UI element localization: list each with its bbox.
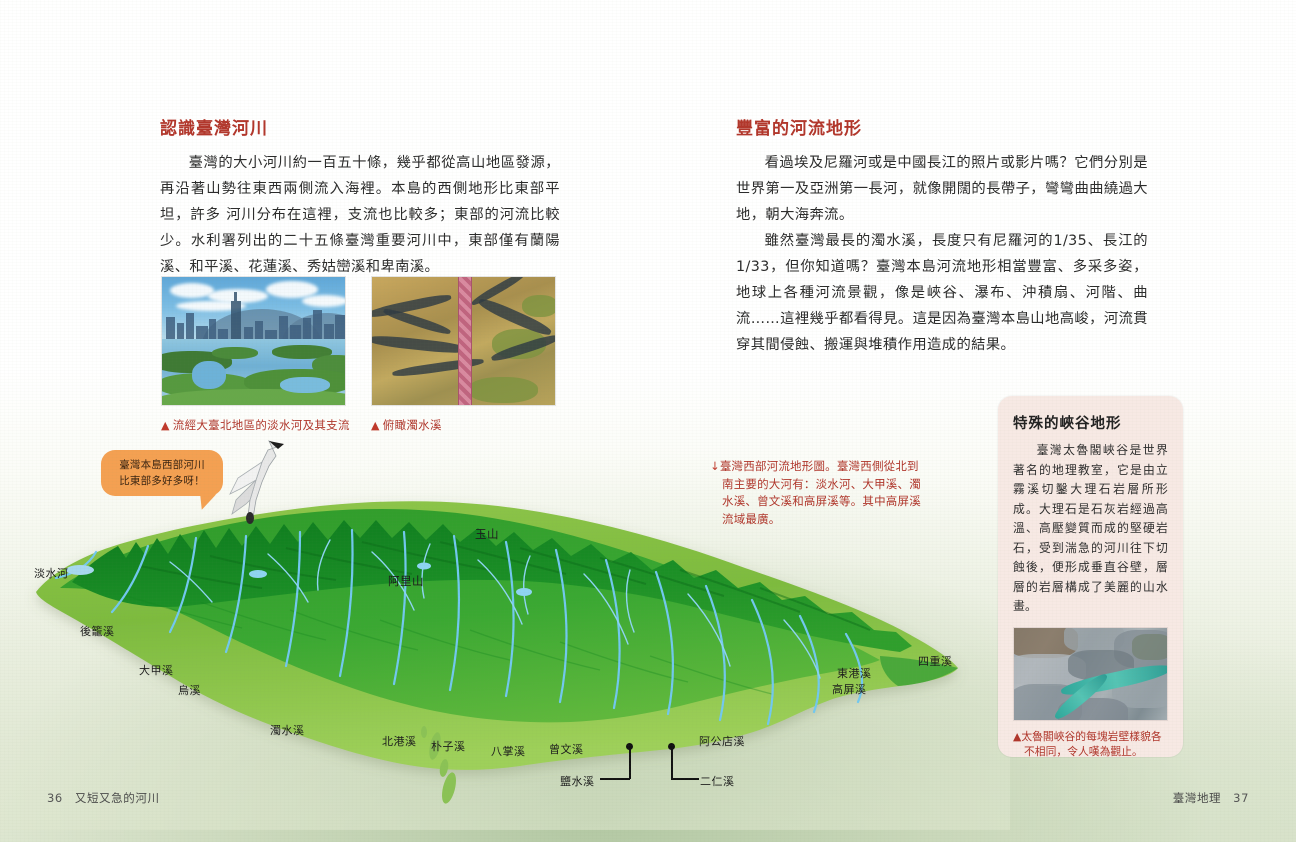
caption-text: 流經大臺北地區的淡水河及其支流 xyxy=(173,418,350,432)
page-number-right: 37 xyxy=(1233,791,1249,805)
taiwan-relief-map: 玉山 阿里山 淡水河 後籠溪 大甲溪 烏溪 濁水溪 北港溪 朴子溪 八掌溪 曾文… xyxy=(0,470,1010,830)
caption-text: 俯瞰濁水溪 xyxy=(383,418,442,432)
taipei101-shape xyxy=(231,301,241,343)
map-label-erren-river: 二仁溪 xyxy=(700,773,735,789)
zhuoshui-photo-caption: ▲俯瞰濁水溪 xyxy=(371,417,541,434)
vegetation-patch xyxy=(522,295,556,317)
zhuoshui-river-photo xyxy=(371,276,556,406)
map-label-gaoping-river: 高屏溪 xyxy=(832,681,867,697)
vegetation-patch xyxy=(468,377,538,403)
river-bend xyxy=(280,377,330,393)
speech-bubble-line-1: 臺灣本島西部河川 xyxy=(119,457,205,473)
right-section-title: 豐富的河流地形 xyxy=(736,114,1148,139)
map-label-wu-river: 烏溪 xyxy=(178,682,201,698)
leader-vertical-yanshui xyxy=(629,747,631,779)
speech-bubble: 臺灣本島西部河川 比東部多好多呀！ xyxy=(101,450,223,496)
map-label-zengwen-river: 曾文溪 xyxy=(549,741,584,757)
map-label-yanshui-river: 鹽水溪 xyxy=(560,773,595,789)
seagull-icon xyxy=(222,438,292,528)
footer-right: 臺灣地理37 xyxy=(1173,790,1249,806)
gorge-box-body: 臺灣太魯閣峽谷是世界著名的地理教室，它是由立霧溪切鑿大理石岩層所形成。大理石是石… xyxy=(1013,441,1168,617)
speech-bubble-line-2: 比東部多好多呀！ xyxy=(119,473,205,489)
map-label-dajia-river: 大甲溪 xyxy=(139,662,174,678)
up-arrow-icon: ▲ xyxy=(371,419,380,432)
map-label-sichong-river: 四重溪 xyxy=(918,653,953,669)
taroko-gorge-photo xyxy=(1013,627,1168,721)
map-label-zhuoshui-river: 濁水溪 xyxy=(270,722,305,738)
moss-shape xyxy=(1132,634,1168,660)
right-text-column: 豐富的河流地形 看過埃及尼羅河或是中國長江的照片或影片嗎？它們分別是世界第一及亞… xyxy=(736,114,1148,358)
tamsui-photo-caption: ▲流經大臺北地區的淡水河及其支流 xyxy=(161,417,391,434)
map-label-tamsui-river: 淡水河 xyxy=(34,565,69,581)
left-section-title: 認識臺灣河川 xyxy=(160,114,560,139)
map-label-donggang-river: 東港溪 xyxy=(837,665,872,681)
map-label-puzi-river: 朴子溪 xyxy=(431,738,466,754)
up-arrow-icon: ▲ xyxy=(161,419,170,432)
left-text-column: 認識臺灣河川 臺灣的大小河川約一百五十條，幾乎都從高山地區發源，再沿著山勢往東西… xyxy=(160,114,560,280)
caption-text: 太魯閣峽谷的每塊岩壁樣貌各不相同，令人嘆為觀止。 xyxy=(1021,730,1161,759)
right-paragraph-2: 雖然臺灣最長的濁水溪，長度只有尼羅河的1/35、長江的1/33，但你知道嗎？臺灣… xyxy=(736,228,1148,358)
map-label-yushan: 玉山 xyxy=(475,526,499,542)
map-label-bazhang-river: 八掌溪 xyxy=(491,743,526,759)
right-paragraph-1: 看過埃及尼羅河或是中國長江的照片或影片嗎？它們分別是世界第一及亞洲第一長河，就像… xyxy=(736,150,1148,228)
map-label-alishan: 阿里山 xyxy=(388,573,424,589)
map-label-houlong-river: 後籠溪 xyxy=(80,623,115,639)
cloud-shape xyxy=(302,295,346,307)
gorge-sidebar-box: 特殊的峽谷地形 臺灣太魯閣峽谷是世界著名的地理教室，它是由立霧溪切鑿大理石岩層所… xyxy=(998,396,1183,757)
bridge-structure xyxy=(458,277,472,405)
leader-horizontal-erren xyxy=(671,778,699,780)
map-label-agongdian-river: 阿公店溪 xyxy=(699,733,745,749)
footer-book-title: 臺灣地理 xyxy=(1173,791,1221,805)
gorge-box-title: 特殊的峽谷地形 xyxy=(1013,412,1168,433)
footer-chapter-title: 又短又急的河川 xyxy=(75,791,160,805)
leader-lines xyxy=(0,470,1010,830)
marsh-shape xyxy=(212,347,258,359)
taipei101-spire xyxy=(234,292,237,301)
tamsui-river-photo xyxy=(161,276,346,406)
left-paragraph-1: 臺灣的大小河川約一百五十條，幾乎都從高山地區發源，再沿著山勢往東西兩側流入海裡。… xyxy=(160,150,560,280)
leader-vertical-erren xyxy=(671,747,673,779)
footer-left: 36又短又急的河川 xyxy=(47,790,160,806)
river-bend xyxy=(192,361,226,389)
gorge-photo-caption: ▲太魯閣峽谷的每塊岩壁樣貌各不相同，令人嘆為觀止。 xyxy=(1013,729,1168,760)
leader-horizontal-yanshui xyxy=(600,778,630,780)
map-label-beigang-river: 北港溪 xyxy=(382,733,417,749)
page-number-left: 36 xyxy=(47,791,63,805)
